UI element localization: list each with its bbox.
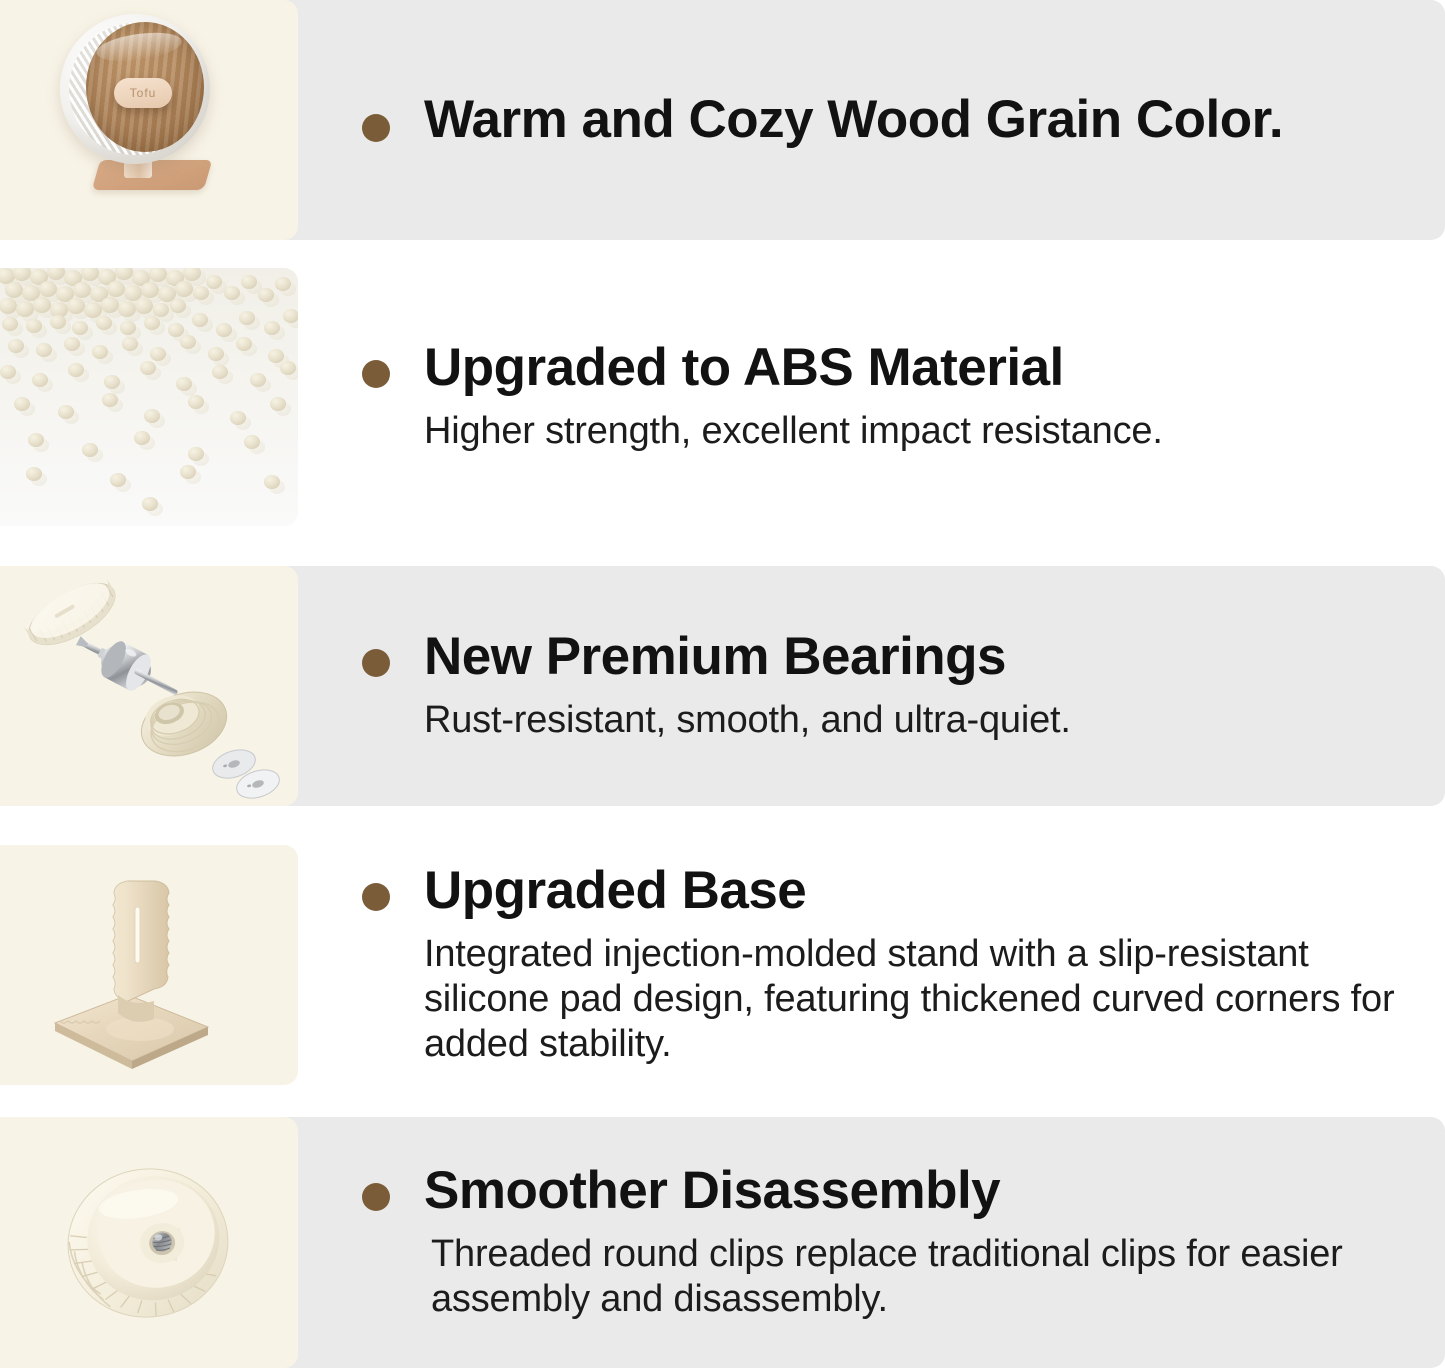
feature-copy: Upgraded Base Integrated injection-molde… [424,863,1434,1067]
feature-title: Smoother Disassembly [424,1163,1434,1219]
feature-row: Upgraded to ABS Material Higher strength… [0,268,1445,526]
bullet-dot-icon [362,114,390,142]
feature-subtitle: Rust-resistant, smooth, and ultra-quiet. [424,698,1071,743]
clip-illustration [0,1117,298,1368]
feature-text: Warm and Cozy Wood Grain Color. [298,0,1445,240]
bullet-dot-icon [362,1183,390,1211]
feature-image-injection-molded-stand-photo [0,845,298,1085]
bullet-block: Upgraded to ABS Material Higher strength… [362,340,1163,454]
bullet-block: New Premium Bearings Rust-resistant, smo… [362,629,1071,743]
bullet-dot-icon [362,883,390,911]
bearing-illustration [0,566,298,806]
bullet-block: Smoother Disassembly Threaded round clip… [362,1163,1434,1322]
feature-text: Smoother Disassembly Threaded round clip… [298,1117,1445,1368]
feature-copy: Smoother Disassembly Threaded round clip… [424,1163,1434,1322]
feature-title: Upgraded Base [424,863,1434,919]
bullet-block: Upgraded Base Integrated injection-molde… [362,863,1434,1067]
feature-row: New Premium Bearings Rust-resistant, smo… [0,566,1445,806]
bullet-dot-icon [362,649,390,677]
stand-svg [0,845,298,1085]
clip-svg [0,1117,298,1368]
pellets-illustration [0,268,298,526]
feature-list: Tofu Warm and Cozy Wood Grain Color. [0,0,1445,1368]
feature-title: Upgraded to ABS Material [424,340,1163,396]
feature-subtitle: Integrated injection-molded stand with a… [424,932,1434,1066]
feature-row: Tofu Warm and Cozy Wood Grain Color. [0,0,1445,240]
feature-row: Upgraded Base Integrated injection-molde… [0,845,1445,1085]
feature-image-threaded-round-clip-photo [0,1117,298,1368]
wheel-base-plate [92,160,213,190]
wheel-illustration: Tofu [0,0,298,240]
feature-text: New Premium Bearings Rust-resistant, smo… [298,566,1445,806]
feature-copy: New Premium Bearings Rust-resistant, smo… [424,629,1071,743]
feature-text: Upgraded Base Integrated injection-molde… [298,845,1445,1085]
bullet-dot-icon [362,360,390,388]
feature-row: Smoother Disassembly Threaded round clip… [0,1117,1445,1368]
feature-image-abs-resin-pellets-photo [0,268,298,526]
feature-image-wood-grain-hamster-wheel-photo: Tofu [0,0,298,240]
feature-title: New Premium Bearings [424,629,1071,685]
stand-illustration [0,845,298,1085]
feature-text: Upgraded to ABS Material Higher strength… [298,268,1445,526]
feature-title: Warm and Cozy Wood Grain Color. [424,92,1283,148]
feature-image-bearing-exploded-parts-photo [0,566,298,806]
feature-copy: Upgraded to ABS Material Higher strength… [424,340,1163,454]
feature-copy: Warm and Cozy Wood Grain Color. [424,92,1283,148]
feature-subtitle: Higher strength, excellent impact resist… [424,409,1163,454]
pellets-svg [0,268,298,526]
bearing-svg [0,566,298,806]
bullet-block: Warm and Cozy Wood Grain Color. [362,92,1283,148]
wheel-brand-label: Tofu [114,78,172,108]
feature-subtitle: Threaded round clips replace traditional… [424,1232,1434,1322]
wheel-brand-pill: Tofu [114,78,172,108]
